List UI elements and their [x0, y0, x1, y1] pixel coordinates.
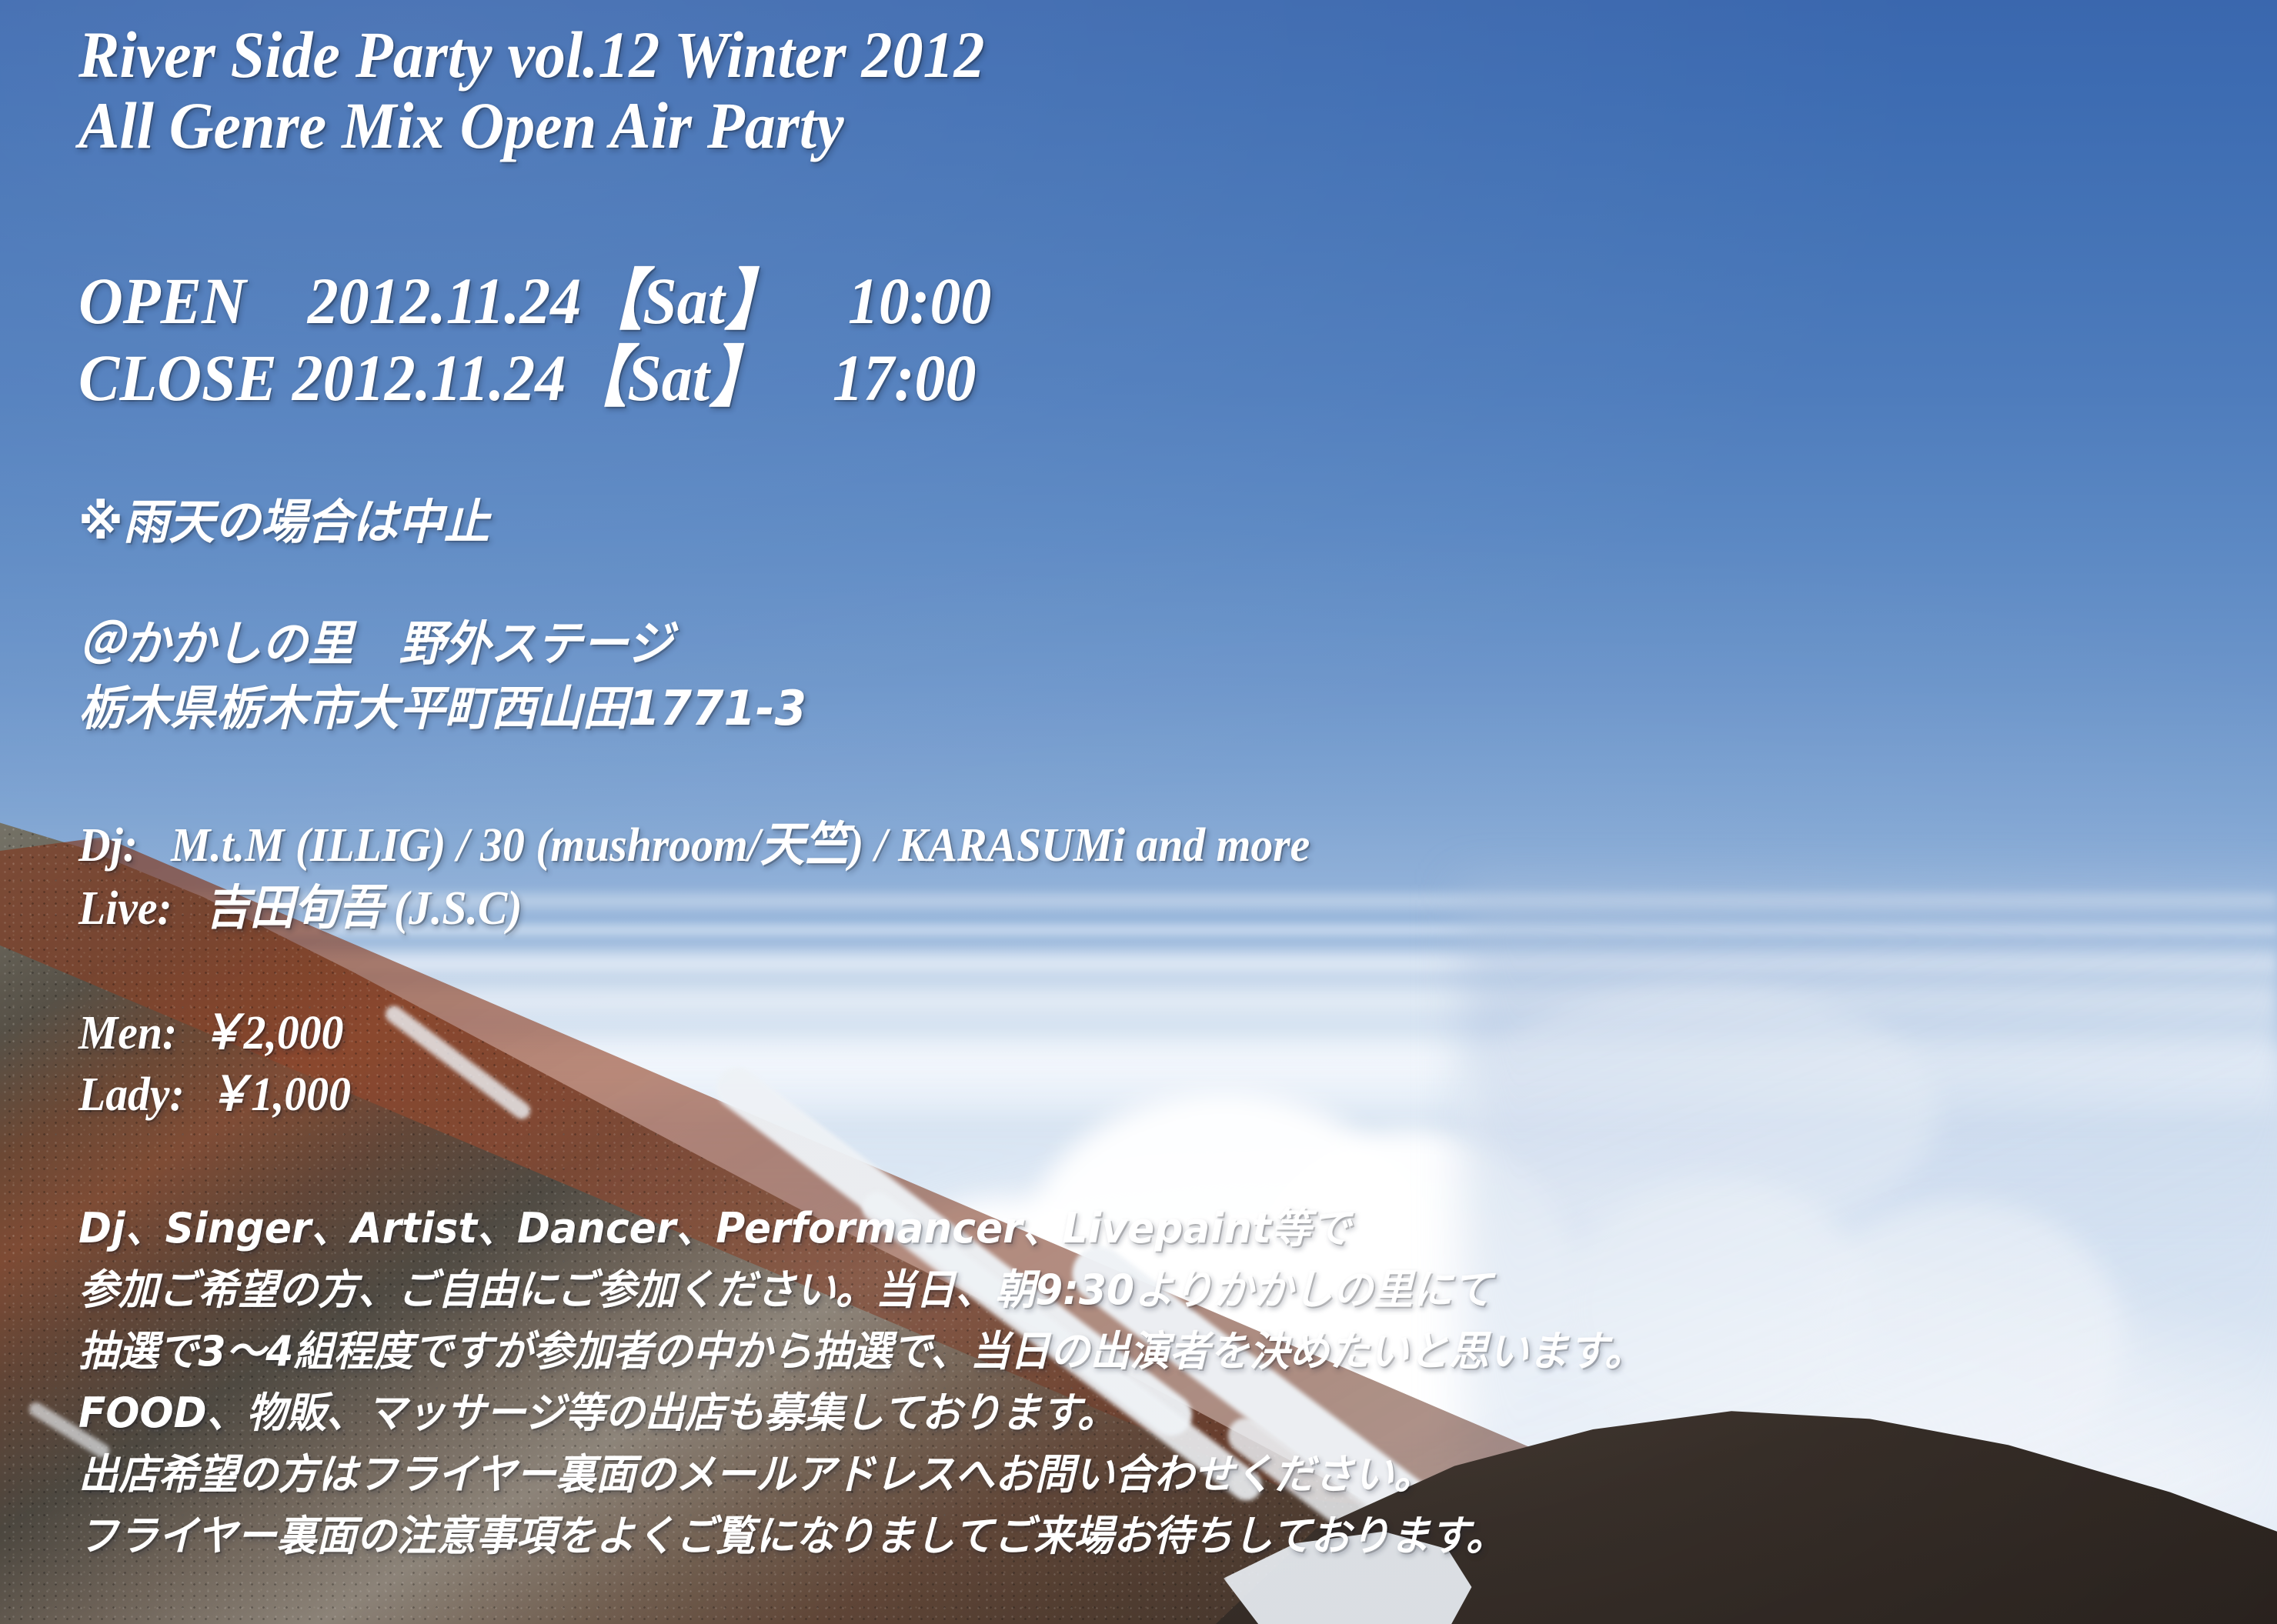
note-line-3: 抽選で3〜4組程度ですが参加者の中から抽選で、当日の出演者を決めたいと思います。	[78, 1331, 1644, 1372]
event-title-line2: All Genre Mix Open Air Party	[78, 92, 844, 158]
event-title-line1: River Side Party vol.12 Winter 2012	[78, 22, 984, 88]
price-men: Men: ￥2,000	[78, 1009, 343, 1057]
note-line-2: 参加ご希望の方、ご自由にご参加ください。当日、朝9:30よりかかしの里にて	[78, 1269, 1493, 1311]
note-line-4: FOOD、物販、マッサージ等の出店も募集しております。	[78, 1392, 1117, 1434]
open-time-line: OPEN 2012.11.24【Sat】 10:00	[78, 268, 991, 334]
flyer-text-content: River Side Party vol.12 Winter 2012 All …	[78, 0, 2233, 1624]
note-line-6: フライヤー裏面の注意事項をよくご覧になりましてご来場お待ちしております。	[78, 1516, 1506, 1557]
note-line-1: Dj、Singer、Artist、Dancer、Performancer、Liv…	[78, 1208, 1351, 1249]
close-time-line: CLOSE 2012.11.24【Sat】 17:00	[78, 345, 977, 411]
rain-cancellation-notice: ※雨天の場合は中止	[78, 499, 489, 546]
flyer-canvas: River Side Party vol.12 Winter 2012 All …	[0, 0, 2277, 1624]
live-lineup-line: Live: 吉田旬吾 (J.S.C)	[78, 885, 523, 932]
venue-address: 栃木県栃木市大平町西山田1771-3	[78, 685, 806, 732]
note-line-5: 出店希望の方はフライヤー裏面のメールアドレスへお問い合わせください。	[78, 1454, 1434, 1496]
dj-lineup-line: Dj: M.t.M (ILLIG) / 30 (mushroom/天竺) / K…	[78, 822, 1310, 869]
price-lady: Lady: ￥1,000	[78, 1071, 351, 1119]
venue-name: ＠かかしの里 野外ステージ	[78, 620, 673, 668]
